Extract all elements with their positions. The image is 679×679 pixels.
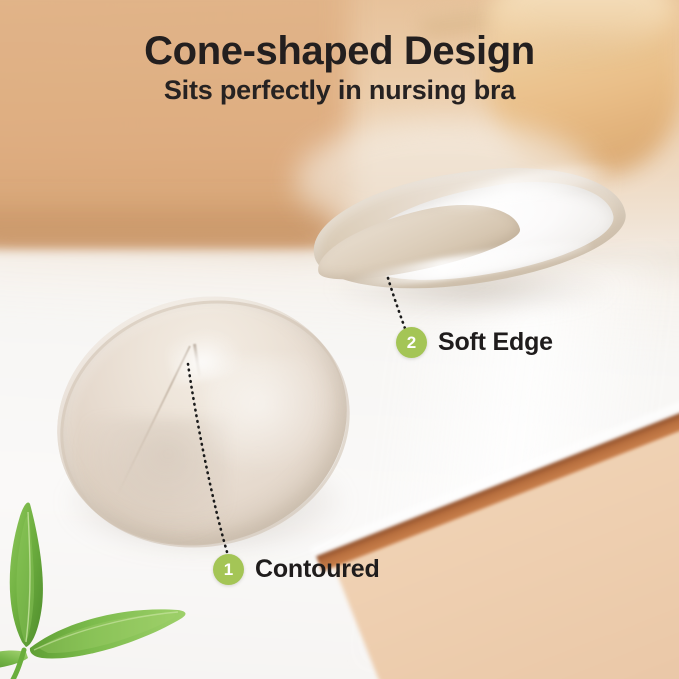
badge-number-2: 2 <box>396 327 427 358</box>
badge-number-1: 1 <box>213 554 244 585</box>
callout-label-soft-edge: Soft Edge <box>438 328 553 357</box>
callout-contoured: 1 Contoured <box>213 554 380 585</box>
callout-soft-edge: 2 Soft Edge <box>396 327 553 358</box>
product-infographic: Cone-shaped Design Sits perfectly in nur… <box>0 0 679 679</box>
callout-label-contoured: Contoured <box>255 555 380 584</box>
leader-line-contoured <box>188 364 227 552</box>
leader-line-soft-edge <box>388 278 407 334</box>
